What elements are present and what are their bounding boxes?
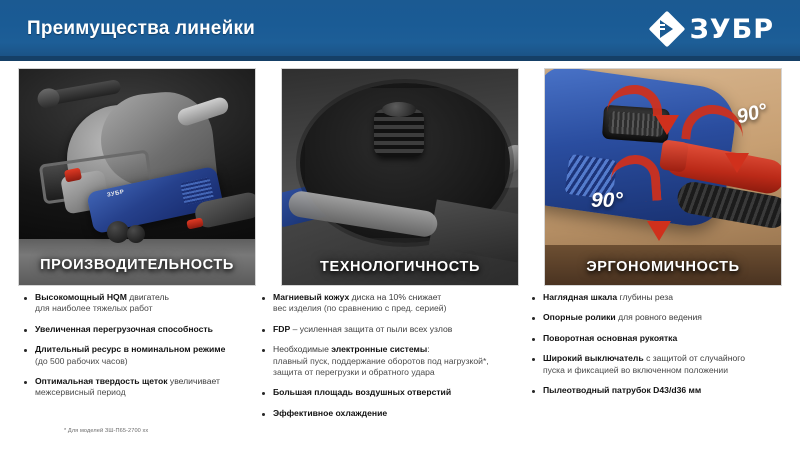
list-item: Эффективное охлаждение (262, 408, 502, 419)
panel-performance: ЗУБР ПРОИЗВОДИТЕЛЬНОСТЬ (18, 68, 256, 286)
brand-logo: ЗУБР (651, 13, 774, 46)
bullet-strong: Опорные ролики (543, 312, 618, 322)
list-item: Оптимальная твердость щеток увеличивает … (24, 376, 246, 399)
panel-caption-performance: ПРОИЗВОДИТЕЛЬНОСТЬ (19, 257, 255, 273)
panel-ergonomics: 90° 90° ЭРГОНОМИЧНОСТЬ (544, 68, 782, 286)
bullet-strong: Эффективное охлаждение (273, 408, 387, 418)
zubr-diamond-arrow-logo-icon (651, 13, 684, 46)
bullet-rest: увеличивает (170, 376, 220, 386)
bullet-rest: для ровного ведения (618, 312, 702, 322)
list-item: Пылеотводный патрубок D43/d36 мм (532, 385, 782, 396)
logo-wordmark: ЗУБР (690, 16, 774, 43)
bullet-sub: вес изделия (по сравнению с пред. серией… (273, 303, 502, 314)
technology-photo (282, 69, 518, 285)
bullet-rest: с защитой от случайного (646, 353, 745, 363)
list-item: Опорные ролики для ровного ведения (532, 312, 782, 323)
disc-hub-shape (374, 109, 424, 157)
feature-column-ergonomics: Наглядная шкала глубины реза Опорные рол… (532, 292, 782, 405)
list-item: Большая площадь воздушных отверстий (262, 387, 502, 398)
bullet-strong: Пылеотводный патрубок D43/d36 мм (543, 385, 701, 395)
list-item: FDP – усиленная защита от пыли всех узло… (262, 324, 502, 335)
bullet-strong: электронные системы (331, 344, 427, 354)
bullet-strong: Длительный ресурс в номинальном режиме (35, 344, 225, 354)
page-header: Преимущества линейки ЗУБР (0, 0, 800, 61)
bullet-sub-2: защита от перегрузки и обратного удара (273, 367, 502, 378)
top-handle-shape (48, 79, 121, 105)
angle-label-left: 90° (591, 189, 623, 213)
list-item: Высокомощный HQM двигатель для наиболее … (24, 292, 246, 315)
bullet-rest: : (427, 344, 429, 354)
bullet-sub: для наиболее тяжелых работ (35, 303, 246, 314)
support-roller-shape-2 (127, 225, 145, 243)
feature-column-technology: Магниевый кожух диска на 10% снижает вес… (262, 292, 502, 428)
list-item: Магниевый кожух диска на 10% снижает вес… (262, 292, 502, 315)
bullet-sub: межсервисный период (35, 387, 246, 398)
bullet-strong: Наглядная шкала (543, 292, 620, 302)
page-title: Преимущества линейки (27, 18, 255, 40)
list-item: Длительный ресурс в номинальном режиме (… (24, 344, 246, 367)
red-trigger-shape (186, 217, 204, 229)
panel-caption-ergonomics: ЭРГОНОМИЧНОСТЬ (545, 259, 781, 275)
bullet-strong: Поворотная основная рукоятка (543, 333, 677, 343)
panel-caption-technology: ТЕХНОЛОГИЧНОСТЬ (282, 259, 518, 275)
bullet-sub: плавный пуск, поддержание оборотов под н… (273, 356, 502, 367)
list-item: Наглядная шкала глубины реза (532, 292, 782, 303)
bullet-sub: (до 500 рабочих часов) (35, 356, 246, 367)
bullet-strong: Широкий выключатель (543, 353, 646, 363)
rotation-arrow-down-icon (607, 85, 662, 116)
support-roller-shape (107, 221, 129, 243)
bullet-prefix: Необходимые (273, 344, 331, 354)
bullet-strong: Увеличенная перегрузочная способность (35, 324, 213, 334)
feature-column-performance: Высокомощный HQM двигатель для наиболее … (24, 292, 246, 408)
list-item: Широкий выключатель с защитой от случайн… (532, 353, 782, 376)
bullet-strong: Оптимальная твердость щеток (35, 376, 170, 386)
logo-bars-icon (654, 24, 665, 32)
base-shoe-shape (429, 200, 518, 263)
performance-photo: ЗУБР (19, 69, 255, 285)
list-item: Поворотная основная рукоятка (532, 333, 782, 344)
feature-columns: Высокомощный HQM двигатель для наиболее … (0, 292, 800, 422)
red-lock-knob-shape (659, 139, 689, 172)
footnote-text: * Для моделей ЗШ-П65-2700 хх (64, 428, 148, 434)
bullet-strong: Большая площадь воздушных отверстий (273, 387, 451, 397)
bullet-rest: диска на 10% снижает (352, 292, 442, 302)
slide-root: Преимущества линейки ЗУБР ЗУБР (0, 0, 800, 450)
list-item: Увеличенная перегрузочная способность (24, 324, 246, 335)
panel-technology: ТЕХНОЛОГИЧНОСТЬ (281, 68, 519, 286)
bullet-strong: Высокомощный HQM (35, 292, 129, 302)
bullet-sub: пуска и фиксацией во включенном положени… (543, 365, 782, 376)
bullet-strong: FDP (273, 324, 290, 334)
ergonomics-photo: 90° 90° (545, 69, 781, 285)
bullet-rest: – усиленная защита от пыли всех узлов (290, 324, 452, 334)
bullet-strong: Магниевый кожух (273, 292, 352, 302)
panel-row: ЗУБР ПРОИЗВОДИТЕЛЬНОСТЬ ТЕХНОЛОГИЧНОСТЬ (0, 68, 800, 286)
list-item: Необходимые электронные системы: плавный… (262, 344, 502, 378)
bullet-rest: двигатель (129, 292, 169, 302)
bullet-rest: глубины реза (620, 292, 673, 302)
